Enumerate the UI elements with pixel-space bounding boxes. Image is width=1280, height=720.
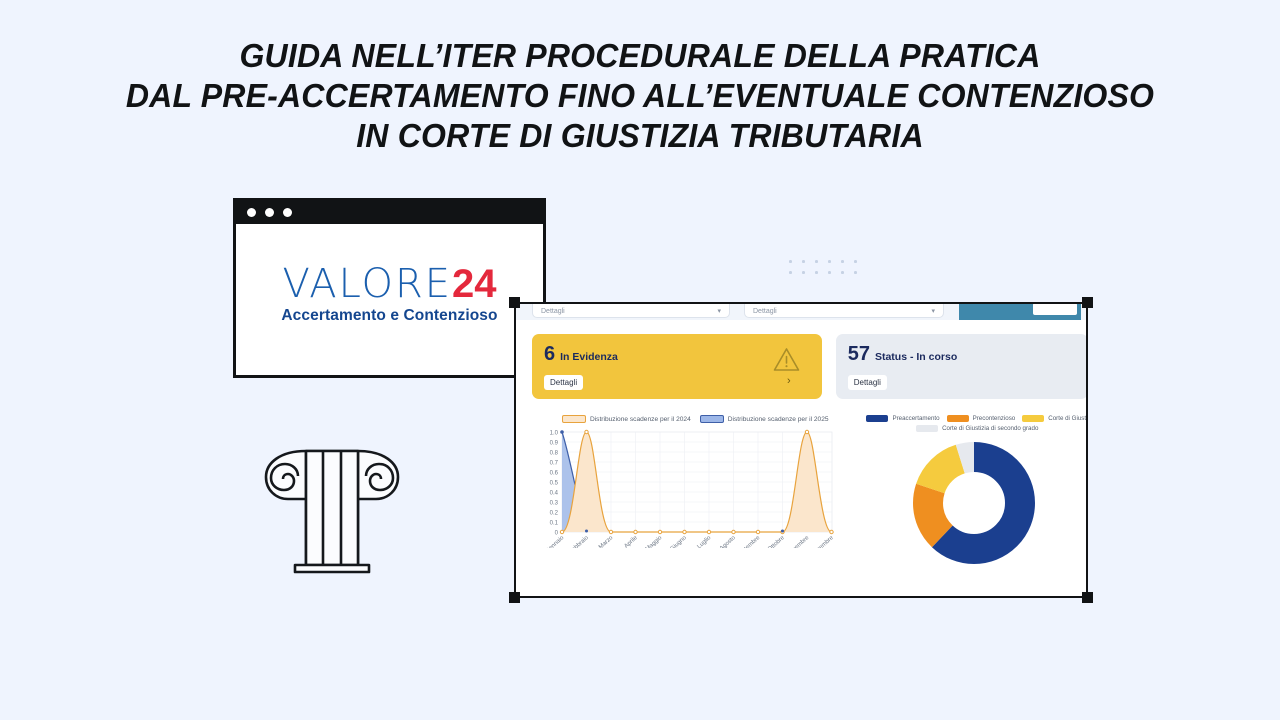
kpi-value: 57 (848, 344, 870, 364)
dot-decoration (789, 271, 792, 274)
legend-swatch (1022, 415, 1044, 422)
warning-triangle-icon (773, 347, 800, 377)
resize-handle-top-right[interactable] (1082, 297, 1093, 308)
ionic-column-svg (262, 443, 402, 578)
resize-handle-top-left[interactable] (509, 297, 520, 308)
legend-item-2025[interactable]: Distribuzione scadenze per il 2025 (700, 415, 829, 423)
kpi-label: In Evidenza (560, 351, 618, 363)
scadenze-distribution-chart[interactable]: Distribuzione scadenze per il 2024 Distr… (532, 415, 858, 568)
svg-text:0.8: 0.8 (550, 451, 559, 457)
brand-logo-word: VALORE (282, 261, 452, 307)
page-title: GUIDA NELL’ITER PROCEDURALE DELLA PRATIC… (19, 36, 1261, 156)
dashboard-viewport: Dettagli ▾ Dettagli ▾ 6 In (514, 302, 1088, 598)
svg-text:0.7: 0.7 (550, 461, 559, 467)
svg-text:0.9: 0.9 (550, 441, 559, 447)
svg-text:1.0: 1.0 (550, 431, 559, 437)
dot-decoration (789, 260, 792, 263)
svg-text:Gennaio: Gennaio (544, 535, 565, 548)
kpi-header: 57 Status - In corso (848, 344, 1076, 364)
traffic-light-close-icon[interactable] (247, 208, 256, 217)
dot-decoration (815, 260, 818, 263)
svg-text:0: 0 (555, 531, 559, 537)
kpi-header: 6 In Evidenza (544, 344, 810, 364)
legend-item-corte-secondo-grado[interactable]: Corte di Giustizia di secondo grado (916, 425, 1038, 432)
svg-text:Ottobre: Ottobre (767, 535, 786, 548)
donut-chart-svg (909, 438, 1039, 568)
svg-text:Settembre: Settembre (737, 535, 762, 548)
chart-legend: Distribuzione scadenze per il 2024 Distr… (532, 415, 858, 423)
dot-decoration (841, 260, 844, 263)
donut-plot-area (860, 438, 1088, 568)
svg-text:Novembre: Novembre (786, 535, 811, 548)
svg-text:0.4: 0.4 (550, 491, 559, 497)
area-chart-svg: 1.00.9 0.80.7 0.60.5 0.40.3 0.20.1 0 (532, 426, 854, 548)
traffic-light-minimize-icon[interactable] (265, 208, 274, 217)
warning-triangle-svg (773, 347, 800, 372)
dot-decoration (828, 271, 831, 274)
brand-logo-accent: 24 (452, 262, 497, 306)
dot-decoration (854, 271, 857, 274)
slide-canvas: GUIDA NELL’ITER PROCEDURALE DELLA PRATIC… (0, 0, 1280, 720)
chart-plot-area: 1.00.9 0.80.7 0.60.5 0.40.3 0.20.1 0 (532, 426, 858, 553)
legend-item-preaccertamento[interactable]: Preaccertamento (866, 415, 939, 422)
title-line-3: IN CORTE DI GIUSTIZIA TRIBUTARIA (19, 116, 1261, 156)
dot-decoration (854, 260, 857, 263)
resize-handle-bottom-left[interactable] (509, 592, 520, 603)
dot-decoration (802, 260, 805, 263)
stato-pratiche-donut-chart[interactable]: Preaccertamento Precontenzioso Corte di … (860, 415, 1088, 568)
donut-legend-row-1: Preaccertamento Precontenzioso Corte di … (860, 415, 1088, 422)
legend-label: Corte di Giustizia di secondo grado (942, 425, 1038, 432)
donut-legend-row-2: Corte di Giustizia di secondo grado (860, 425, 1088, 432)
browser-titlebar (236, 201, 543, 224)
legend-label: Precontenzioso (973, 415, 1016, 422)
browser-content: VALORE24 Accertamento e Contenzioso (236, 224, 543, 375)
dot-decoration (841, 271, 844, 274)
svg-text:0.3: 0.3 (550, 501, 559, 507)
dashboard-body: 6 In Evidenza Dettagli › (514, 320, 1088, 598)
charts-row: Distribuzione scadenze per il 2024 Distr… (532, 415, 1088, 568)
svg-text:Maggio: Maggio (645, 535, 664, 548)
chevron-down-icon: ▾ (931, 307, 935, 315)
svg-text:Luglio: Luglio (696, 535, 712, 548)
legend-swatch (700, 415, 724, 423)
dashboard-screenshot-object[interactable]: Dettagli ▾ Dettagli ▾ 6 In (514, 302, 1088, 598)
title-line-2: DAL PRE-ACCERTAMENTO FINO ALL’EVENTUALE … (19, 76, 1261, 116)
kpi-card-status-in-corso[interactable]: 57 Status - In corso Dettagli (836, 334, 1088, 399)
legend-swatch (562, 415, 586, 423)
svg-text:Agosto: Agosto (719, 535, 737, 548)
svg-text:Aprile: Aprile (623, 535, 639, 548)
dashboard-toolbar: Dettagli ▾ Dettagli ▾ (514, 302, 1088, 320)
legend-swatch (947, 415, 969, 422)
svg-text:Giugno: Giugno (669, 535, 688, 548)
chevron-down-icon: ▾ (717, 307, 721, 315)
kpi-label: Status - In corso (875, 351, 957, 363)
kpi-details-button[interactable]: Dettagli (544, 375, 583, 390)
browser-mock-window: VALORE24 Accertamento e Contenzioso (233, 198, 546, 378)
filter-two-label: Dettagli (753, 308, 777, 315)
legend-label: Distribuzione scadenze per il 2024 (590, 416, 691, 423)
dot-decoration (802, 271, 805, 274)
brand-logo: VALORE24 (282, 263, 496, 305)
legend-label: Preaccertamento (892, 415, 939, 422)
kpi-card-row: 6 In Evidenza Dettagli › (532, 334, 1088, 399)
dot-decoration (828, 260, 831, 263)
legend-swatch (866, 415, 888, 422)
legend-item-2024[interactable]: Distribuzione scadenze per il 2024 (562, 415, 691, 423)
legend-label: Corte di Giust (1048, 415, 1086, 422)
svg-text:0.6: 0.6 (550, 471, 559, 477)
legend-item-corte-di-giustizia[interactable]: Corte di Giust (1022, 415, 1086, 422)
filter-one-label: Dettagli (541, 308, 565, 315)
resize-handle-bottom-right[interactable] (1082, 592, 1093, 603)
svg-text:0.1: 0.1 (550, 521, 559, 527)
dot-decoration (815, 271, 818, 274)
brand-logo-subtitle: Accertamento e Contenzioso (281, 307, 497, 325)
title-line-1: GUIDA NELL’ITER PROCEDURALE DELLA PRATIC… (19, 36, 1261, 76)
filter-dropdown-one[interactable]: Dettagli ▾ (532, 302, 730, 318)
toolbar-action-bar[interactable] (959, 302, 1081, 320)
legend-item-precontenzioso[interactable]: Precontenzioso (947, 415, 1016, 422)
kpi-value: 6 (544, 344, 555, 364)
svg-text:Febbraio: Febbraio (568, 535, 590, 548)
toolbar-action-button[interactable] (1033, 303, 1077, 315)
legend-swatch (916, 425, 938, 432)
kpi-details-button[interactable]: Dettagli (848, 375, 887, 390)
legend-label: Distribuzione scadenze per il 2025 (728, 416, 829, 423)
chevron-right-icon[interactable]: › (787, 376, 791, 387)
kpi-card-in-evidenza[interactable]: 6 In Evidenza Dettagli › (532, 334, 822, 399)
svg-text:Dicembre: Dicembre (812, 535, 836, 548)
svg-text:Marzo: Marzo (598, 535, 615, 548)
dots-decoration (789, 260, 867, 282)
filter-dropdown-two[interactable]: Dettagli ▾ (744, 302, 944, 318)
traffic-light-maximize-icon[interactable] (283, 208, 292, 217)
svg-text:0.2: 0.2 (550, 511, 559, 517)
svg-text:0.5: 0.5 (550, 481, 559, 487)
ionic-column-icon (262, 443, 402, 578)
